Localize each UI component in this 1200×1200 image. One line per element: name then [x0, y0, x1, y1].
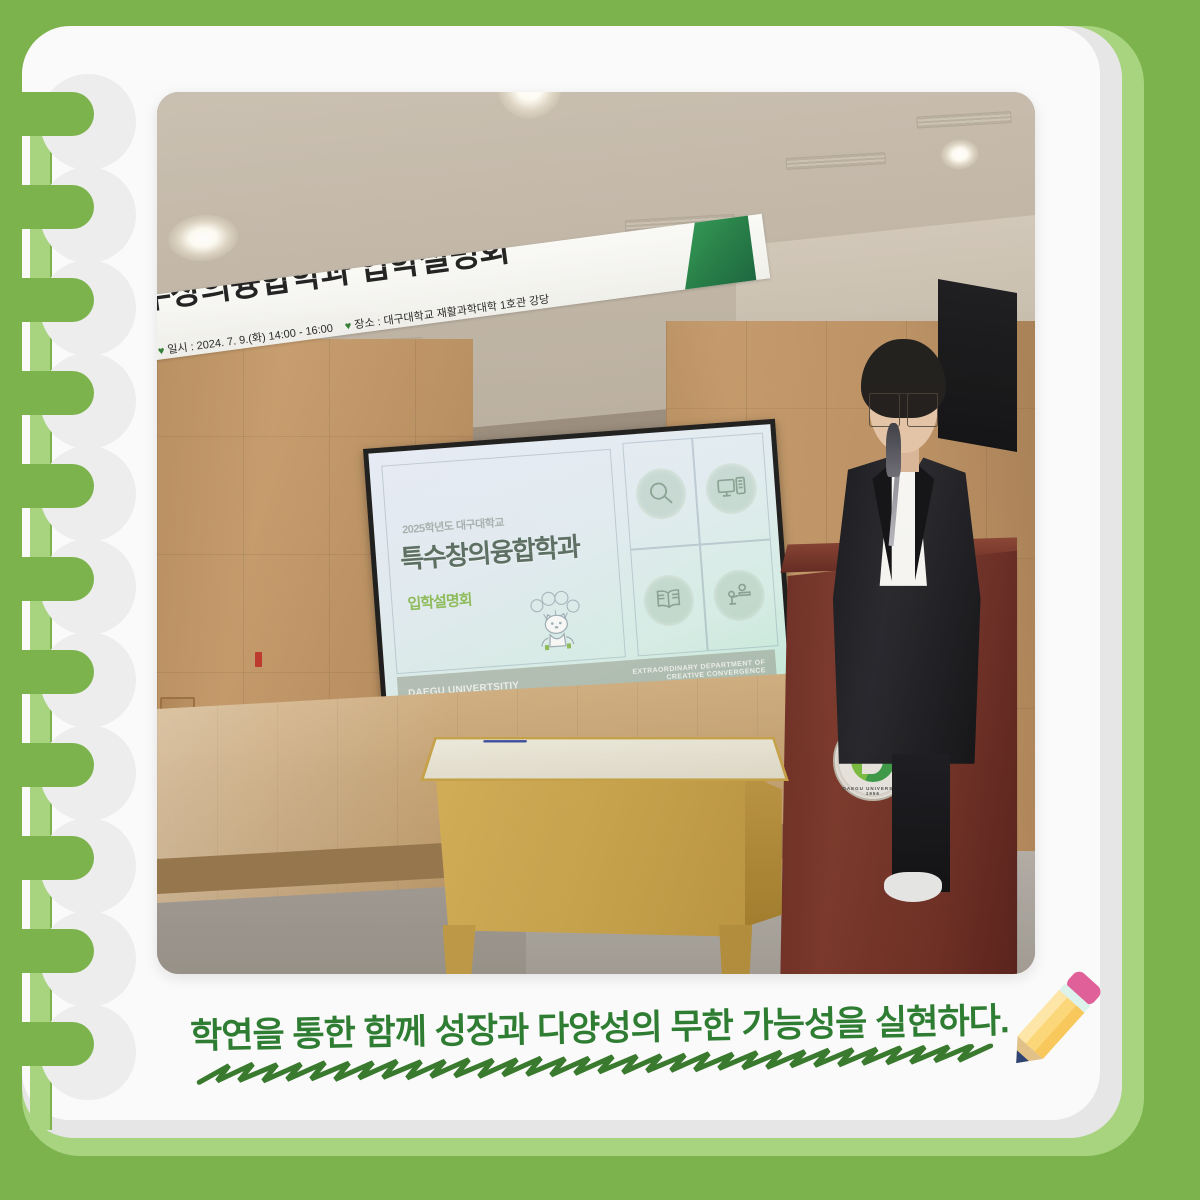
therapy-person-icon [712, 569, 766, 623]
magnifier-icon [634, 467, 688, 521]
presenter-shoe [884, 872, 942, 902]
pencil-icon [1000, 958, 1110, 1083]
slide-icon-cell [622, 438, 700, 550]
wooden-lectern [420, 727, 789, 974]
ceiling-light [495, 92, 565, 122]
lectern-side [745, 774, 782, 927]
air-vent [785, 152, 886, 170]
computer-monitor-icon [704, 462, 758, 516]
slide-icon-cell [630, 545, 708, 657]
presenter [807, 339, 1000, 833]
ceiling-light [166, 212, 240, 264]
lectern-leg-left [443, 925, 476, 974]
ceiling-light [939, 138, 980, 171]
heart-icon: ♥ [157, 345, 165, 358]
lectern-sticker [483, 740, 527, 742]
banner-date-label: 일시 [167, 341, 189, 356]
lectern-top [420, 737, 789, 781]
glasses-icon [869, 393, 939, 413]
open-book-icon [642, 574, 696, 628]
microphone-icon [886, 423, 901, 477]
photo-scene: 특수창의융합학과 입학설명회 ♥ 일시 : 2024. 7. 9.(화) 14:… [157, 92, 1035, 974]
air-vent [916, 111, 1012, 129]
white-tiger-mascot [524, 588, 588, 652]
event-photo[interactable]: 특수창의융합학과 입학설명회 ♥ 일시 : 2024. 7. 9.(화) 14:… [157, 92, 1035, 974]
fire-alarm-icon [255, 652, 262, 667]
slide-icon-grid [622, 433, 778, 657]
lectern-front [435, 769, 767, 937]
banner-place-label: 장소 [353, 317, 375, 332]
presenter-legs [892, 754, 950, 892]
slide-icon-cell [700, 540, 778, 652]
heart-icon: ♥ [344, 320, 352, 333]
slide-icon-cell [693, 433, 771, 545]
lectern-leg-right [719, 925, 752, 974]
